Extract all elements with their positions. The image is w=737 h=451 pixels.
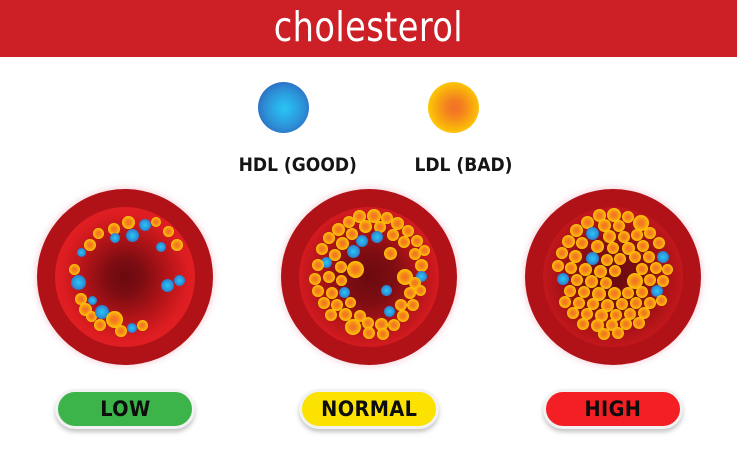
status-badge-label: HIGH — [585, 399, 642, 420]
ldl-particle — [397, 310, 409, 322]
hdl-particle — [156, 242, 166, 252]
ldl-particle — [562, 235, 575, 248]
artery-lumen-high — [543, 207, 683, 347]
hdl-particle — [174, 275, 185, 286]
ldl-particle — [122, 216, 135, 229]
ldl-particle — [171, 239, 183, 251]
ldl-particle — [598, 328, 610, 340]
hdl-particle — [71, 275, 86, 290]
ldl-particle — [398, 236, 410, 248]
ldl-particle — [576, 237, 588, 249]
ldl-particle — [388, 319, 400, 331]
ldl-particle — [629, 251, 641, 263]
ldl-particle — [318, 297, 330, 309]
hdl-particle — [347, 245, 360, 258]
status-badge-label: NORMAL — [321, 399, 417, 420]
hdl-particle — [161, 279, 174, 292]
hdl-particle — [657, 251, 669, 263]
artery-diagram-normal — [281, 189, 457, 365]
artery-diagram-high — [525, 189, 701, 365]
ldl-particle — [567, 307, 579, 319]
hdl-particle — [139, 219, 151, 231]
ldl-particle — [601, 254, 613, 266]
hdl-particle — [110, 233, 120, 243]
ldl-particle — [609, 265, 621, 277]
hdl-particle — [586, 227, 599, 240]
ldl-particle — [323, 232, 335, 244]
ldl-particle — [84, 239, 96, 251]
hdl-particle — [371, 231, 383, 243]
ldl-particle — [407, 299, 419, 311]
page-title: cholesterol — [274, 7, 463, 51]
ldl-particle — [326, 287, 338, 299]
legend-label-ldl: LDL (BAD) — [414, 156, 512, 175]
hdl-particle — [126, 229, 139, 242]
ldl-particle — [345, 319, 361, 335]
hdl-particle — [384, 306, 395, 317]
ldl-particle — [137, 320, 148, 331]
ldl-particle — [343, 216, 355, 228]
ldl-particle — [335, 261, 347, 273]
ldl-particle — [363, 327, 375, 339]
ldl-particle — [94, 319, 106, 331]
yellow-sphere-icon — [428, 82, 479, 133]
ldl-particle — [556, 247, 568, 259]
ldl-particle — [633, 317, 645, 329]
hdl-particle — [381, 285, 392, 296]
legend-label-hdl: HDL (GOOD) — [239, 156, 357, 175]
ldl-particle — [325, 309, 337, 321]
status-badge-low[interactable]: LOW — [55, 389, 195, 429]
ldl-particle — [359, 220, 372, 233]
ldl-particle — [603, 230, 616, 243]
ldl-particle — [643, 251, 655, 263]
ldl-particle — [312, 285, 324, 297]
infographic-canvas: cholesterol HDL (GOOD)LDL (BAD) LOWNORMA… — [0, 0, 737, 451]
ldl-particle — [607, 242, 619, 254]
ldl-particle — [565, 262, 577, 274]
ldl-particle — [653, 237, 665, 249]
ldl-particle — [115, 325, 127, 337]
ldl-particle — [347, 261, 364, 278]
ldl-particle — [384, 247, 397, 260]
ldl-particle — [662, 264, 673, 275]
ldl-particle — [387, 229, 399, 241]
ldl-particle — [577, 318, 589, 330]
ldl-particle — [377, 328, 389, 340]
hdl-particle — [77, 248, 86, 257]
ldl-particle — [93, 228, 104, 239]
ldl-particle — [415, 285, 426, 296]
artery-diagram-low — [37, 189, 213, 365]
ldl-particle — [69, 264, 80, 275]
artery-lumen-low — [55, 207, 195, 347]
ldl-particle — [644, 227, 656, 239]
ldl-particle — [345, 297, 356, 308]
status-badge-high[interactable]: HIGH — [543, 389, 683, 429]
status-badge-label: LOW — [100, 399, 150, 420]
hdl-particle — [356, 235, 368, 247]
ldl-particle — [644, 274, 656, 286]
ldl-particle — [163, 226, 174, 237]
hdl-particle — [557, 273, 569, 285]
title-banner: cholesterol — [0, 0, 737, 57]
artery-lumen-normal — [299, 207, 439, 347]
ldl-particle — [656, 295, 667, 306]
ldl-particle — [614, 253, 626, 265]
ldl-particle — [552, 260, 564, 272]
status-badge-normal[interactable]: NORMAL — [299, 389, 439, 429]
hdl-particle — [127, 323, 137, 333]
ldl-particle — [419, 245, 430, 256]
ldl-particle — [312, 259, 324, 271]
ldl-particle — [559, 296, 571, 308]
ldl-particle — [650, 262, 662, 274]
ldl-particle — [323, 271, 335, 283]
ldl-particle — [636, 286, 648, 298]
ldl-particle — [612, 327, 624, 339]
ldl-particle — [336, 275, 347, 286]
ldl-particle — [571, 274, 583, 286]
ldl-particle — [151, 217, 161, 227]
ldl-particle — [316, 243, 328, 255]
ldl-particle — [309, 273, 321, 285]
hdl-particle — [88, 296, 97, 305]
blue-sphere-icon — [258, 82, 309, 133]
